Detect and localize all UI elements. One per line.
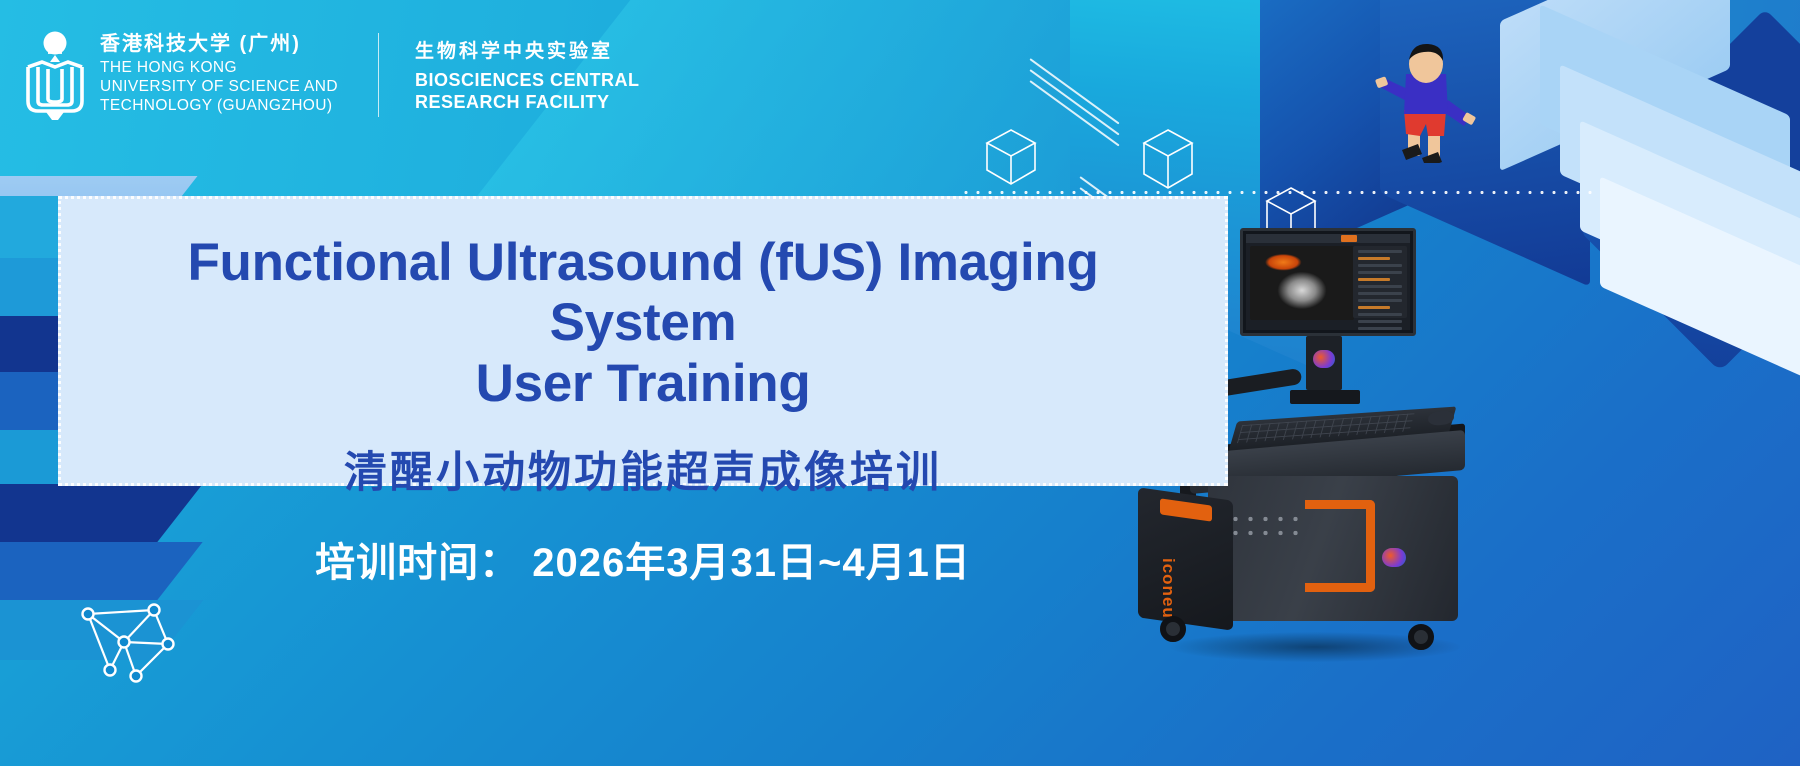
cart-orange-accent: [1305, 500, 1375, 592]
brain-logo-icon: [1382, 548, 1406, 567]
university-name-en: THE HONG KONG UNIVERSITY OF SCIENCE AND …: [100, 59, 338, 116]
banner-header: 香港科技大学 (广州) THE HONG KONG UNIVERSITY OF …: [0, 0, 1800, 150]
caster-wheel-icon: [1160, 616, 1186, 642]
university-identity: 香港科技大学 (广州) THE HONG KONG UNIVERSITY OF …: [100, 34, 338, 116]
brain-ultrasound-image: [1250, 246, 1354, 320]
caster-wheel-icon: [1408, 624, 1434, 650]
monitor-arm-mount: [1290, 390, 1360, 404]
facility-identity: 生物科学中央实验室 BIOSCIENCES CENTRAL RESEARCH F…: [415, 36, 640, 114]
title-panel: Functional Ultrasound (fUS) Imaging Syst…: [58, 196, 1228, 486]
university-name-cn: 香港科技大学 (广州): [100, 34, 338, 54]
facility-name-en-line-1: BIOSCIENCES CENTRAL: [415, 70, 640, 92]
title-subtitle-cn: 清醒小动物功能超声成像培训: [344, 438, 942, 500]
network-node-graph-icon: [72, 592, 182, 697]
page-title: Functional Ultrasound (fUS) Imaging Syst…: [98, 233, 1188, 414]
brain-logo-icon: [1313, 350, 1335, 368]
university-name-en-line-3: TECHNOLOGY (GUANGZHOU): [100, 97, 338, 116]
university-name-en-line-2: UNIVERSITY OF SCIENCE AND: [100, 78, 338, 97]
facility-name-en-line-2: RESEARCH FACILITY: [415, 92, 640, 114]
monitor-screen: [1246, 234, 1410, 330]
vertical-divider-icon: [378, 33, 379, 117]
title-line-2: User Training: [98, 354, 1188, 414]
hkust-sun-book-logo-icon: [24, 29, 86, 121]
dotted-separator-icon: [960, 190, 1600, 195]
control-knobs: [1228, 512, 1306, 540]
facility-name-en: BIOSCIENCES CENTRAL RESEARCH FACILITY: [415, 70, 640, 114]
title-line-1: Functional Ultrasound (fUS) Imaging Syst…: [98, 233, 1188, 354]
training-banner: 香港科技大学 (广州) THE HONG KONG UNIVERSITY OF …: [0, 0, 1800, 766]
software-side-panel: [1353, 246, 1407, 318]
facility-name-cn: 生物科学中央实验室: [415, 36, 640, 63]
monitor-icon: [1240, 228, 1416, 336]
schedule-text: 培训时间： 2026年3月31日~4月1日: [58, 530, 1228, 588]
software-toolbar: [1246, 234, 1410, 243]
university-name-en-line-1: THE HONG KONG: [100, 59, 338, 78]
